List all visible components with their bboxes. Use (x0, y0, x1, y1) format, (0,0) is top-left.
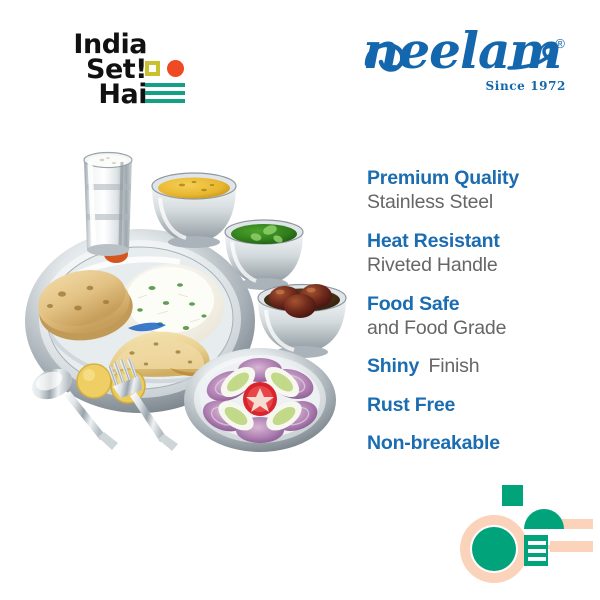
thali-set-photograph (20, 138, 360, 453)
feature-item-heat-resistant: Heat Resistant Riveted Handle (367, 229, 582, 278)
square-icon (502, 485, 523, 506)
feature-title: Premium Quality (367, 166, 582, 190)
logo-line-hai: Hai (42, 83, 147, 108)
dinnerware-icon-group (458, 483, 593, 588)
steel-bowl-with-gulab-jamun (258, 284, 346, 358)
teal-bar-icon (145, 99, 185, 103)
orange-circle-icon (167, 60, 184, 77)
india-set-hai-logo: India Set! Hai (42, 33, 192, 105)
steel-tumbler-with-raita (84, 153, 132, 257)
yellow-square-icon (145, 61, 160, 76)
fork-icon (524, 535, 593, 566)
teal-bar-icon (145, 91, 185, 95)
india-set-hai-wordmark: India Set! Hai (42, 33, 147, 107)
feature-subtitle: Riveted Handle (367, 253, 582, 277)
steel-plate-with-salad (184, 348, 336, 452)
feature-subtitle: Stainless Steel (367, 190, 582, 214)
feature-item-shiny-finish: Shiny Finish (367, 354, 582, 378)
neelam-tagline: Since 1972 (486, 79, 566, 93)
feature-item-non-breakable: Non-breakable (367, 431, 582, 455)
neelam-wordmark: neelam (363, 26, 561, 76)
feature-title: Heat Resistant (367, 229, 582, 253)
registered-trademark-icon: ® (555, 36, 565, 51)
teal-bar-icon (145, 83, 185, 87)
banner-canvas: India Set! Hai neelam ® Since 1972 (0, 0, 600, 600)
feature-title: Food Safe (367, 292, 582, 316)
feature-title: Shiny (367, 355, 419, 377)
feature-list: Premium Quality Stainless Steel Heat Res… (367, 166, 582, 469)
feature-item-rust-free: Rust Free (367, 393, 582, 417)
neelam-logo: neelam ® Since 1972 (363, 32, 568, 102)
feature-item-premium-quality: Premium Quality Stainless Steel (367, 166, 582, 215)
plate-ring-icon (460, 515, 528, 583)
feature-subtitle: and Food Grade (367, 316, 582, 340)
feature-title: Non-breakable (367, 431, 582, 455)
feature-title: Rust Free (367, 393, 582, 417)
tomato-slice (243, 382, 277, 416)
spoon-icon (524, 509, 593, 529)
feature-subtitle: Finish (429, 355, 480, 377)
feature-item-food-safe: Food Safe and Food Grade (367, 292, 582, 341)
